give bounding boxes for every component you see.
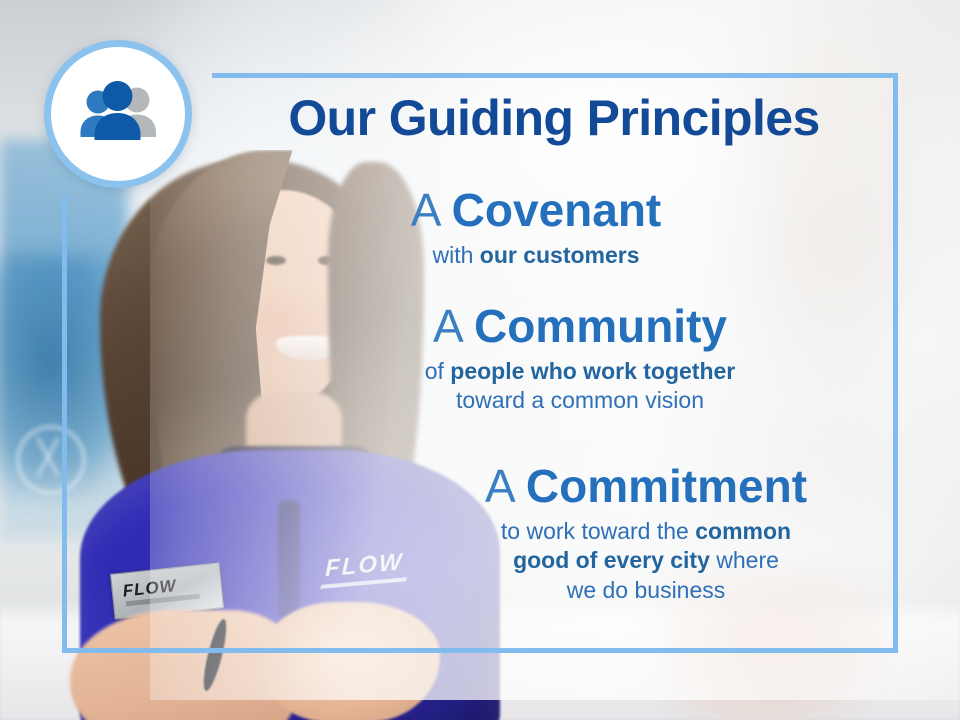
frame-border-bottom bbox=[62, 648, 898, 653]
principle-covenant-heading: A Covenant bbox=[286, 186, 786, 235]
principle-community-sub: of people who work togethertoward a comm… bbox=[330, 357, 830, 416]
shirt-placket bbox=[278, 500, 300, 618]
principle-sub-text: toward a common vision bbox=[456, 387, 704, 413]
principle-sub-line: to work toward the common bbox=[396, 517, 896, 546]
principle-community-article: A bbox=[433, 300, 461, 352]
principle-sub-text: where bbox=[710, 547, 779, 573]
principle-community-heading: A Community bbox=[330, 302, 830, 351]
principle-sub-text: we do business bbox=[567, 577, 726, 603]
principle-sub-text: of bbox=[425, 358, 451, 384]
people-badge bbox=[44, 40, 192, 188]
principle-covenant: A Covenant with our customers bbox=[286, 186, 786, 270]
principle-sub-line: we do business bbox=[396, 576, 896, 605]
principle-sub-text: with bbox=[432, 242, 479, 268]
page-title: Our Guiding Principles bbox=[218, 92, 890, 144]
principle-sub-line: of people who work together bbox=[330, 357, 830, 386]
principle-community-word: Community bbox=[474, 300, 727, 352]
principle-commitment-article: A bbox=[485, 460, 513, 512]
eye-left bbox=[266, 256, 286, 265]
shirt-chest-logo: FLOW bbox=[325, 548, 404, 583]
principle-community: A Community of people who work togethert… bbox=[330, 302, 830, 416]
frame-border-left bbox=[62, 195, 67, 653]
principle-sub-emphasis: good of every city bbox=[513, 547, 710, 573]
guiding-principles-graphic: FLOW FLOW Our Gui bbox=[0, 0, 960, 720]
frame-border-top bbox=[212, 73, 898, 78]
principle-commitment-heading: A Commitment bbox=[396, 462, 896, 511]
clasped-hands bbox=[260, 602, 440, 720]
principle-sub-line: toward a common vision bbox=[330, 386, 830, 415]
principle-sub-text: to work toward the bbox=[501, 518, 695, 544]
principle-commitment-sub: to work toward the commongood of every c… bbox=[396, 517, 896, 605]
principle-sub-line: with our customers bbox=[286, 241, 786, 270]
principle-commitment: A Commitment to work toward the commongo… bbox=[396, 462, 896, 605]
principle-sub-line: good of every city where bbox=[396, 546, 896, 575]
principle-sub-emphasis: people who work together bbox=[450, 358, 735, 384]
principle-sub-emphasis: common bbox=[695, 518, 791, 544]
principle-covenant-article: A bbox=[411, 184, 439, 236]
principle-sub-emphasis: our customers bbox=[480, 242, 640, 268]
principle-covenant-word: Covenant bbox=[452, 184, 662, 236]
principle-commitment-word: Commitment bbox=[526, 460, 807, 512]
principle-covenant-sub: with our customers bbox=[286, 241, 786, 270]
people-group-icon bbox=[72, 78, 164, 150]
